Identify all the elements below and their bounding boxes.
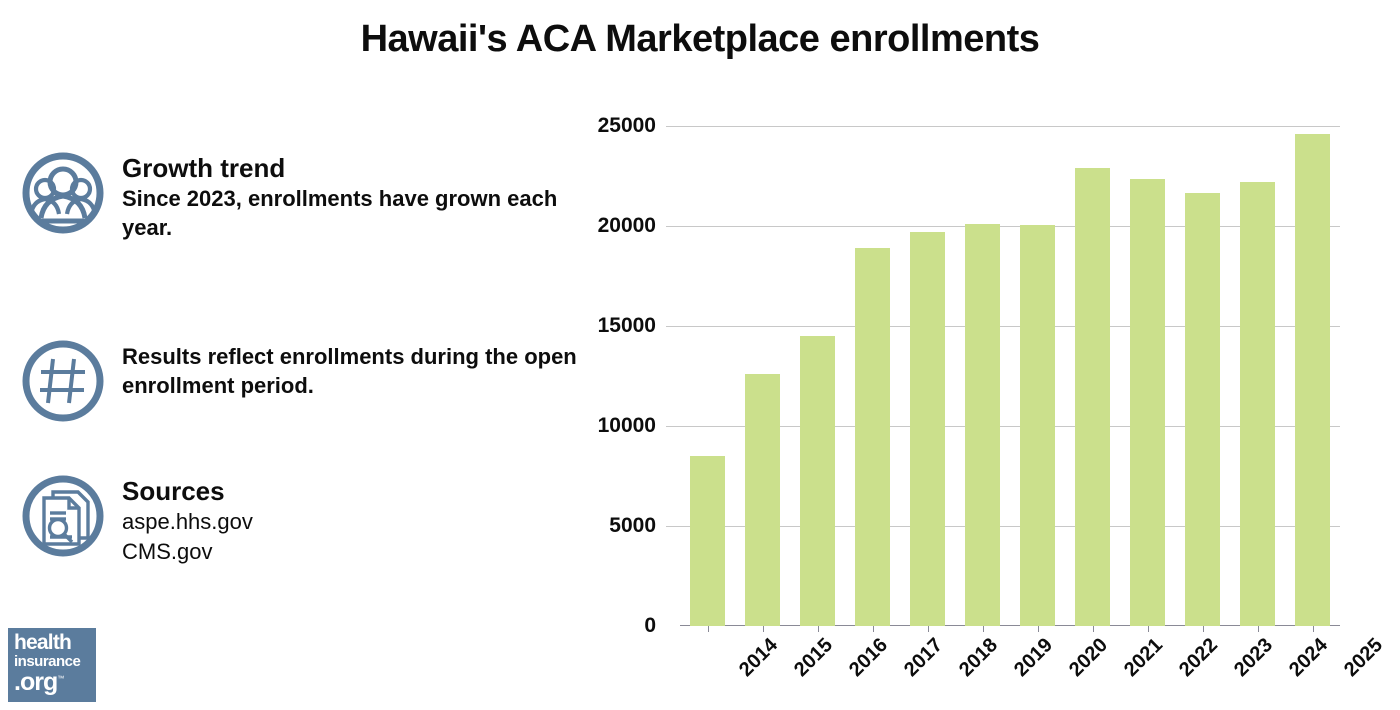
info-text-growth-trend: Growth trend Since 2023, enrollments hav… <box>122 152 592 243</box>
x-axis-tick-label: 2015 <box>790 634 838 682</box>
x-axis-tick-mark <box>708 626 709 632</box>
x-axis-tick-label: 2014 <box>735 634 783 682</box>
bar <box>1020 225 1054 626</box>
x-axis-tick-label: 2021 <box>1120 634 1168 682</box>
x-axis-tick-mark <box>1258 626 1259 632</box>
x-axis-tick-label: 2016 <box>845 634 893 682</box>
y-axis-tick-mark <box>666 226 680 227</box>
x-axis-tick-label: 2019 <box>1010 634 1058 682</box>
source-item-1: CMS.gov <box>122 537 253 567</box>
logo-line-1: health <box>14 632 90 653</box>
gridline <box>680 126 1340 127</box>
x-axis-tick-mark <box>1148 626 1149 632</box>
info-text-open-enrollment-note: Results reflect enrollments during the o… <box>122 340 592 401</box>
x-axis-tick-label: 2018 <box>955 634 1003 682</box>
logo-line-3: .org™ <box>14 670 90 695</box>
info-heading: Growth trend <box>122 154 592 183</box>
bar <box>1075 168 1109 626</box>
info-text-sources: Sources aspe.hhs.gov CMS.gov <box>122 475 253 566</box>
x-axis-tick-mark <box>818 626 819 632</box>
bar <box>800 336 834 626</box>
bar <box>1130 179 1164 626</box>
info-body: Since 2023, enrollments have grown each … <box>122 184 592 243</box>
x-axis-tick-mark <box>1093 626 1094 632</box>
bar <box>1295 134 1329 626</box>
x-axis-tick-mark <box>763 626 764 632</box>
logo-trademark: ™ <box>57 676 63 683</box>
x-axis-tick-mark <box>873 626 874 632</box>
y-axis-tick-mark <box>666 126 680 127</box>
y-axis-tick-label: 0 <box>536 614 656 638</box>
y-axis-tick-mark <box>666 526 680 527</box>
healthinsurance-org-logo: health insurance .org™ <box>8 628 96 702</box>
y-axis-tick-mark <box>666 326 680 327</box>
x-axis-tick-label: 2020 <box>1065 634 1113 682</box>
bar <box>1185 193 1219 626</box>
bar <box>910 232 944 626</box>
info-block-growth-trend: Growth trend Since 2023, enrollments hav… <box>22 152 592 243</box>
hash-icon <box>22 340 104 422</box>
info-body: Results reflect enrollments during the o… <box>122 342 592 401</box>
y-axis-tick-label: 15000 <box>536 314 656 338</box>
people-group-icon <box>22 152 104 234</box>
documents-search-icon <box>22 475 104 557</box>
x-axis-tick-label: 2024 <box>1285 634 1333 682</box>
bar <box>690 456 724 626</box>
bar <box>965 224 999 626</box>
y-axis-tick-label: 20000 <box>536 214 656 238</box>
info-panel: Growth trend Since 2023, enrollments hav… <box>0 100 600 620</box>
source-item-0: aspe.hhs.gov <box>122 507 253 537</box>
bar-chart: 0500010000150002000025000201420152016201… <box>600 0 1400 710</box>
x-axis-tick-mark <box>1203 626 1204 632</box>
plot-area: 0500010000150002000025000201420152016201… <box>680 114 1340 626</box>
x-axis-tick-mark <box>1313 626 1314 632</box>
y-axis-tick-label: 10000 <box>536 414 656 438</box>
x-axis-tick-mark <box>1038 626 1039 632</box>
x-axis-tick-mark <box>928 626 929 632</box>
bar <box>855 248 889 626</box>
x-axis-tick-label: 2023 <box>1230 634 1278 682</box>
info-block-sources: Sources aspe.hhs.gov CMS.gov <box>22 475 592 566</box>
x-axis-tick-mark <box>983 626 984 632</box>
y-axis-tick-mark <box>666 426 680 427</box>
bar <box>745 374 779 626</box>
logo-org-text: .org <box>14 668 57 696</box>
x-axis-tick-label: 2022 <box>1175 634 1223 682</box>
x-axis-tick-label: 2025 <box>1340 634 1388 682</box>
info-heading: Sources <box>122 477 253 506</box>
x-axis-tick-label: 2017 <box>900 634 948 682</box>
y-axis-tick-label: 25000 <box>536 114 656 138</box>
bar <box>1240 182 1274 626</box>
logo-line-2: insurance <box>14 654 90 669</box>
info-block-open-enrollment-note: Results reflect enrollments during the o… <box>22 340 592 422</box>
y-axis-tick-label: 5000 <box>536 514 656 538</box>
